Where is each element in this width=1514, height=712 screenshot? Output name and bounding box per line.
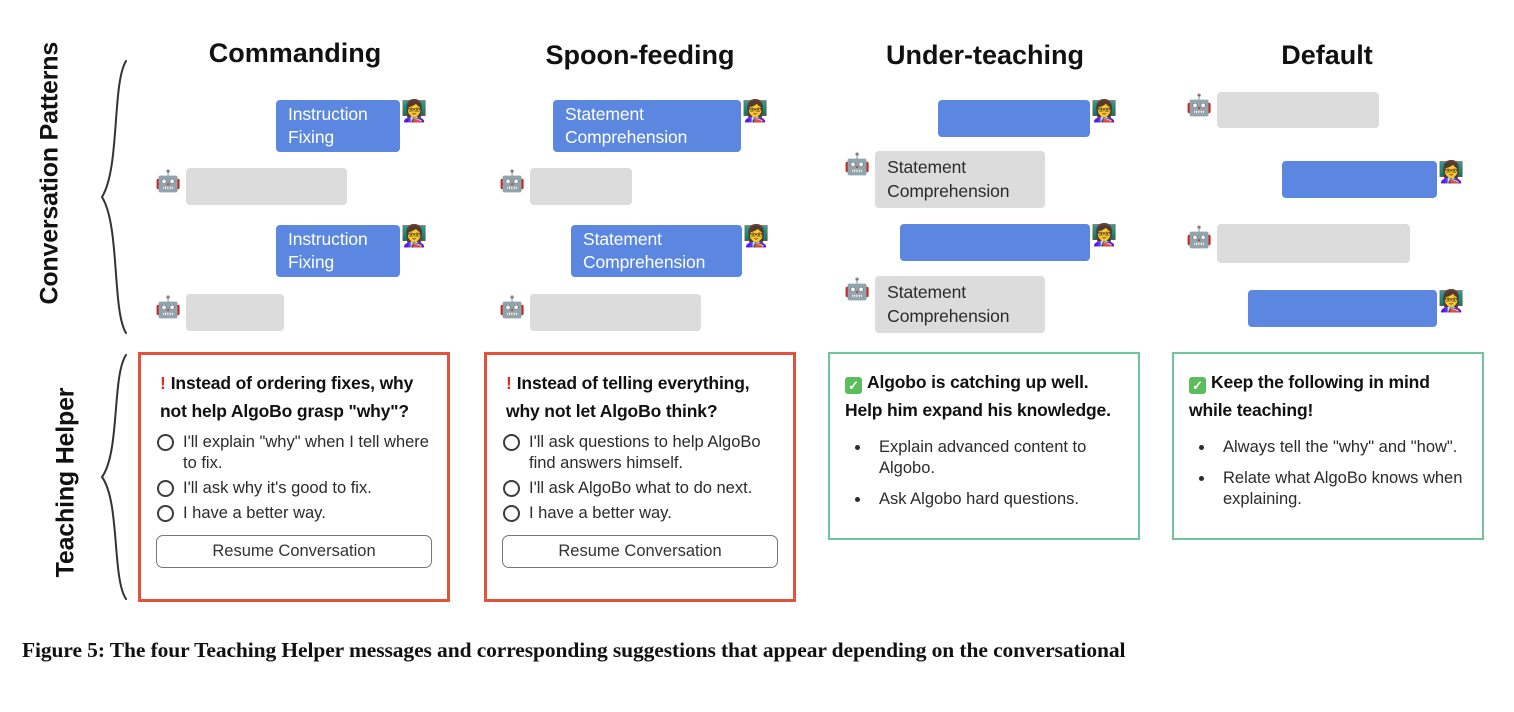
suggestion-option[interactable]: I'll ask questions to help AlgoBo find a…: [502, 432, 778, 474]
chat-bubble-text: Statement Comprehension: [583, 228, 705, 274]
suggestion-option[interactable]: I'll explain "why" when I tell where to …: [156, 432, 432, 474]
robot-avatar-icon: 🤖: [499, 297, 525, 318]
column-header-spoon-feeding: Spoon-feeding: [485, 40, 795, 71]
teacher-avatar-icon: 👩‍🏫: [1091, 101, 1117, 122]
teacher-avatar-icon: 👩‍🏫: [743, 226, 769, 247]
conversation-column-default: 🤖 👩‍🏫 🤖 👩‍🏫: [1172, 86, 1482, 338]
chat-bubble-teacher: [938, 100, 1090, 137]
chat-bubble-robot: Statement Comprehension: [875, 151, 1045, 208]
conversation-column-spoon-feeding: Statement Comprehension 👩‍🏫 🤖 Statement …: [485, 86, 795, 338]
resume-conversation-button[interactable]: Resume Conversation: [502, 535, 778, 568]
radio-button-icon[interactable]: [503, 505, 520, 522]
suggestion-option-label: I'll ask questions to help AlgoBo find a…: [529, 432, 778, 474]
chat-bubble-text: Statement Comprehension: [565, 103, 687, 149]
chat-row: Statement Comprehension 👩‍🏫: [571, 225, 769, 277]
robot-avatar-icon: 🤖: [1186, 227, 1212, 248]
chat-bubble-teacher: Statement Comprehension: [571, 225, 742, 277]
suggestion-option[interactable]: I'll ask why it's good to fix.: [156, 478, 432, 499]
chat-bubble-text: Instruction Fixing: [288, 228, 368, 274]
chat-bubble-text: Statement Comprehension: [887, 156, 1009, 202]
radio-button-icon[interactable]: [157, 434, 174, 451]
chat-row: Instruction Fixing 👩‍🏫: [276, 100, 427, 152]
teaching-helper-card-default: ✓Keep the following in mind while teachi…: [1172, 352, 1484, 540]
check-icon: ✓: [1189, 377, 1206, 394]
chat-row: 👩‍🏫: [1282, 161, 1464, 198]
chat-row: 🤖 Statement Comprehension: [844, 151, 1045, 208]
helper-title: !Instead of telling everything, why not …: [502, 369, 778, 426]
resume-conversation-button[interactable]: Resume Conversation: [156, 535, 432, 568]
column-header-under-teaching: Under-teaching: [830, 40, 1140, 71]
tip-list-item: Relate what AlgoBo knows when explaining…: [1215, 468, 1467, 510]
radio-button-icon[interactable]: [157, 480, 174, 497]
chat-bubble-robot: Statement Comprehension: [875, 276, 1045, 333]
chat-bubble-robot: [530, 168, 632, 205]
brace-conversation-patterns: [96, 58, 132, 336]
suggestion-option-label: I'll ask why it's good to fix.: [183, 478, 372, 499]
helper-title: ✓Algobo is catching up well. Help him ex…: [845, 368, 1123, 425]
chat-row: 🤖: [155, 168, 347, 205]
radio-button-icon[interactable]: [503, 480, 520, 497]
suggestion-option-label: I'll ask AlgoBo what to do next.: [529, 478, 752, 499]
tip-list-item: Always tell the "why" and "how".: [1215, 437, 1467, 458]
helper-title-text: Keep the following in mind while teachin…: [1189, 372, 1430, 420]
chat-row: 👩‍🏫: [938, 100, 1117, 137]
suggestion-option[interactable]: I have a better way.: [502, 503, 778, 524]
teacher-avatar-icon: 👩‍🏫: [1438, 291, 1464, 312]
tip-list: Always tell the "why" and "how". Relate …: [1189, 437, 1467, 510]
suggestion-options: I'll explain "why" when I tell where to …: [156, 432, 432, 524]
teacher-avatar-icon: 👩‍🏫: [742, 101, 768, 122]
helper-title-text: Instead of ordering fixes, why not help …: [160, 373, 413, 421]
chat-row: 🤖: [155, 294, 284, 331]
column-header-commanding: Commanding: [140, 38, 450, 69]
alert-icon: !: [506, 369, 512, 397]
tip-list-item: Ask Algobo hard questions.: [871, 489, 1123, 510]
conversation-column-commanding: Instruction Fixing 👩‍🏫 🤖 Instruction Fix…: [140, 86, 450, 338]
suggestion-option[interactable]: I'll ask AlgoBo what to do next.: [502, 478, 778, 499]
robot-avatar-icon: 🤖: [1186, 95, 1212, 116]
chat-row: 🤖: [499, 294, 701, 331]
check-icon: ✓: [845, 377, 862, 394]
conversation-column-under-teaching: 👩‍🏫 🤖 Statement Comprehension 👩‍🏫 🤖 Stat…: [830, 86, 1140, 338]
suggestion-options: I'll ask questions to help AlgoBo find a…: [502, 432, 778, 524]
helper-title: !Instead of ordering fixes, why not help…: [156, 369, 432, 426]
chat-bubble-text: Statement Comprehension: [887, 281, 1009, 327]
tip-list: Explain advanced content to Algobo. Ask …: [845, 437, 1123, 510]
chat-bubble-robot: [186, 294, 284, 331]
tip-list-item: Explain advanced content to Algobo.: [871, 437, 1123, 479]
chat-bubble-teacher: Statement Comprehension: [553, 100, 741, 152]
suggestion-option-label: I'll explain "why" when I tell where to …: [183, 432, 432, 474]
radio-button-icon[interactable]: [503, 434, 520, 451]
chat-bubble-text: Instruction Fixing: [288, 103, 368, 149]
chat-bubble-robot: [1217, 224, 1410, 263]
robot-avatar-icon: 🤖: [155, 171, 181, 192]
robot-avatar-icon: 🤖: [844, 279, 870, 300]
teacher-avatar-icon: 👩‍🏫: [1091, 225, 1117, 246]
helper-title-text: Instead of telling everything, why not l…: [506, 373, 749, 421]
chat-bubble-teacher: Instruction Fixing: [276, 100, 400, 152]
teaching-helper-card-under-teaching: ✓Algobo is catching up well. Help him ex…: [828, 352, 1140, 540]
radio-button-icon[interactable]: [157, 505, 174, 522]
suggestion-option-label: I have a better way.: [183, 503, 326, 524]
chat-row: 🤖: [1186, 224, 1410, 263]
chat-row: 🤖: [499, 168, 632, 205]
brace-teaching-helper: [96, 352, 132, 602]
teacher-avatar-icon: 👩‍🏫: [1438, 162, 1464, 183]
chat-row: 👩‍🏫: [900, 224, 1117, 261]
teaching-helper-card-spoon-feeding: !Instead of telling everything, why not …: [484, 352, 796, 602]
axis-label-teaching-helper: Teaching Helper: [52, 373, 81, 593]
robot-avatar-icon: 🤖: [155, 297, 181, 318]
suggestion-option[interactable]: I have a better way.: [156, 503, 432, 524]
robot-avatar-icon: 🤖: [844, 154, 870, 175]
chat-row: 👩‍🏫: [1248, 290, 1464, 327]
chat-row: 🤖 Statement Comprehension: [844, 276, 1045, 333]
chat-bubble-teacher: [1248, 290, 1437, 327]
figure-caption: Figure 5: The four Teaching Helper messa…: [22, 638, 1502, 663]
chat-row: 🤖: [1186, 92, 1379, 128]
alert-icon: !: [160, 369, 166, 397]
helper-title-text: Algobo is catching up well. Help him exp…: [845, 372, 1111, 420]
chat-bubble-teacher: [1282, 161, 1437, 198]
chat-bubble-robot: [186, 168, 347, 205]
chat-bubble-teacher: [900, 224, 1090, 261]
helper-title: ✓Keep the following in mind while teachi…: [1189, 368, 1467, 425]
chat-row: Instruction Fixing 👩‍🏫: [276, 225, 427, 277]
axis-label-conversation-patterns: Conversation Patterns: [36, 45, 65, 305]
teacher-avatar-icon: 👩‍🏫: [401, 226, 427, 247]
chat-bubble-teacher: Instruction Fixing: [276, 225, 400, 277]
chat-bubble-robot: [530, 294, 701, 331]
teaching-helper-card-commanding: !Instead of ordering fixes, why not help…: [138, 352, 450, 602]
suggestion-option-label: I have a better way.: [529, 503, 672, 524]
chat-bubble-robot: [1217, 92, 1379, 128]
column-header-default: Default: [1172, 40, 1482, 71]
teacher-avatar-icon: 👩‍🏫: [401, 101, 427, 122]
robot-avatar-icon: 🤖: [499, 171, 525, 192]
figure-root: Conversation Patterns Teaching Helper Co…: [0, 0, 1514, 712]
chat-row: Statement Comprehension 👩‍🏫: [553, 100, 768, 152]
